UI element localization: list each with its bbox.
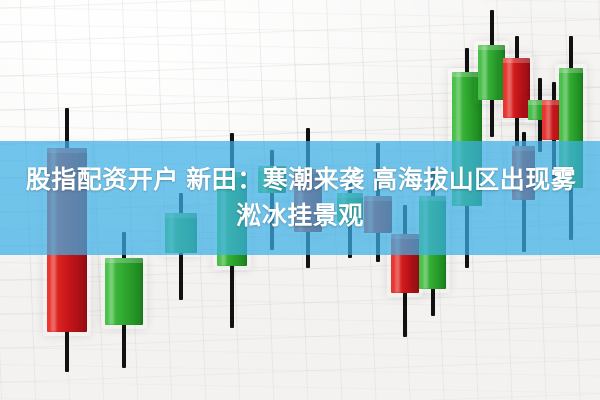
candle-body-up xyxy=(478,45,505,100)
headline-line-1: 股指配资开户 新田：寒潮来袭 高海拔山区出现雾 xyxy=(24,162,576,198)
screenshot-canvas: 股指配资开户 新田：寒潮来袭 高海拔山区出现雾 淞冰挂景观 xyxy=(0,0,600,400)
candle-body-up xyxy=(105,258,143,325)
candle-body-specular xyxy=(507,58,512,118)
candle-body-down xyxy=(503,58,530,118)
headline-banner: 股指配资开户 新田：寒潮来袭 高海拔山区出现雾 淞冰挂景观 xyxy=(0,141,600,255)
candle-body-specular xyxy=(482,45,487,100)
candle-body-specular xyxy=(532,100,537,120)
candle-body-shadow xyxy=(101,254,147,329)
candle-body-specular xyxy=(109,258,114,325)
candle-body-specular xyxy=(546,100,551,140)
headline-line-2: 淞冰挂景观 xyxy=(236,198,364,234)
candle-11 xyxy=(478,10,505,137)
